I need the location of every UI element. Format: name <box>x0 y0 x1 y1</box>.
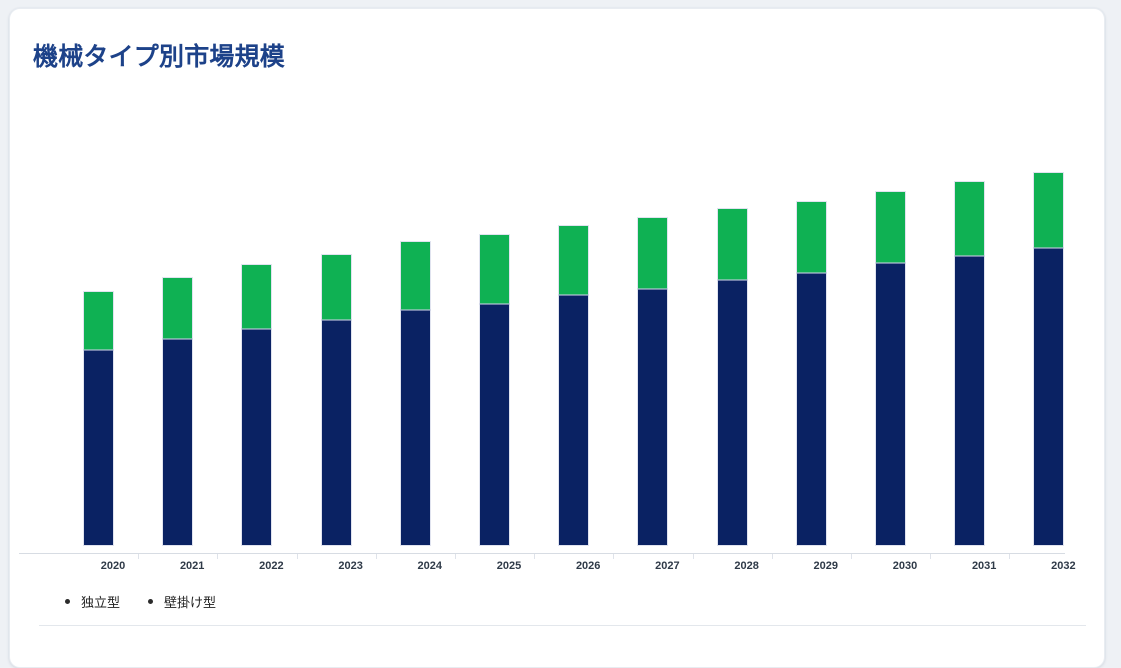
bar-segment-wallmount[interactable] <box>1034 173 1063 248</box>
x-axis-tick-label: 2023 <box>321 560 381 572</box>
bullet-icon <box>148 599 153 604</box>
bar-segment-standalone[interactable] <box>401 310 430 545</box>
bar-segment-standalone[interactable] <box>718 280 747 545</box>
bar-group[interactable] <box>718 209 747 545</box>
bar-segment-standalone[interactable] <box>480 304 509 545</box>
x-axis-tick-label: 2024 <box>400 560 460 572</box>
x-axis-tick-label: 2022 <box>241 560 301 572</box>
x-axis-tick <box>851 554 852 559</box>
x-axis-tick <box>693 554 694 559</box>
bar-segment-wallmount[interactable] <box>559 226 588 295</box>
bar-segment-wallmount[interactable] <box>401 242 430 310</box>
x-axis-tick-label: 2027 <box>637 560 697 572</box>
bar-segment-wallmount[interactable] <box>718 209 747 280</box>
x-axis-tick-label: 2020 <box>83 560 143 572</box>
bar-segment-wallmount[interactable] <box>163 278 192 339</box>
card-divider <box>39 625 1086 626</box>
bar-segment-standalone[interactable] <box>242 329 271 545</box>
x-axis-tick-label: 2026 <box>558 560 618 572</box>
bar-segment-wallmount[interactable] <box>480 235 509 304</box>
x-axis-tick-label: 2025 <box>479 560 539 572</box>
bar-segment-wallmount[interactable] <box>84 292 113 350</box>
x-axis-tick <box>297 554 298 559</box>
x-axis-tick-label: 2021 <box>162 560 222 572</box>
chart-plot-area <box>51 109 1095 545</box>
bar-segment-wallmount[interactable] <box>322 255 351 320</box>
bar-group[interactable] <box>480 235 509 545</box>
bar-group[interactable] <box>638 218 667 545</box>
x-axis-tick-label: 2028 <box>717 560 777 572</box>
bar-segment-wallmount[interactable] <box>797 202 826 273</box>
bar-segment-standalone[interactable] <box>955 256 984 545</box>
bullet-icon <box>65 599 70 604</box>
legend-item-label: 独立型 <box>81 592 120 611</box>
bar-group[interactable] <box>242 265 271 545</box>
x-axis-tick <box>217 554 218 559</box>
x-axis-tick-label: 2030 <box>875 560 935 572</box>
bar-segment-standalone[interactable] <box>797 273 826 545</box>
bar-segment-standalone[interactable] <box>163 339 192 545</box>
bar-segment-wallmount[interactable] <box>638 218 667 289</box>
x-axis-tick <box>1009 554 1010 559</box>
x-axis-tick-label: 2031 <box>954 560 1014 572</box>
x-axis-tick <box>455 554 456 559</box>
legend-item[interactable]: 独立型 <box>65 592 120 611</box>
legend-item-label: 壁掛け型 <box>164 592 216 611</box>
bar-segment-wallmount[interactable] <box>955 182 984 256</box>
bar-group[interactable] <box>559 226 588 545</box>
chart-legend: 独立型壁掛け型 <box>65 592 216 611</box>
bar-group[interactable] <box>322 255 351 545</box>
legend-item[interactable]: 壁掛け型 <box>148 592 216 611</box>
bar-segment-standalone[interactable] <box>638 289 667 545</box>
bar-group[interactable] <box>401 242 430 545</box>
page-title: 機械タイプ別市場規模 <box>33 37 285 73</box>
x-axis-tick <box>930 554 931 559</box>
bar-segment-wallmount[interactable] <box>876 192 905 263</box>
bar-group[interactable] <box>163 278 192 545</box>
bar-group[interactable] <box>955 182 984 545</box>
x-axis-tick <box>534 554 535 559</box>
x-axis-tick-label: 2029 <box>796 560 856 572</box>
x-axis-tick-label: 2032 <box>1033 560 1093 572</box>
bar-segment-standalone[interactable] <box>1034 248 1063 545</box>
bar-group[interactable] <box>1034 173 1063 545</box>
x-axis-tick <box>376 554 377 559</box>
bar-segment-standalone[interactable] <box>322 320 351 545</box>
x-axis-labels: 2020202120222023202420252026202720282029… <box>51 560 1095 576</box>
bar-segment-standalone[interactable] <box>876 263 905 545</box>
bar-series-container <box>51 109 1095 545</box>
bar-group[interactable] <box>797 202 826 545</box>
bar-group[interactable] <box>876 192 905 545</box>
chart-card: 機械タイプ別市場規模 20202021202220232024202520262… <box>9 8 1105 668</box>
bar-segment-standalone[interactable] <box>559 295 588 545</box>
x-axis-tick <box>772 554 773 559</box>
bar-segment-wallmount[interactable] <box>242 265 271 329</box>
x-axis-tick <box>613 554 614 559</box>
x-axis-tick <box>138 554 139 559</box>
x-axis-line <box>19 553 1065 554</box>
bar-segment-standalone[interactable] <box>84 350 113 545</box>
bar-group[interactable] <box>84 292 113 545</box>
